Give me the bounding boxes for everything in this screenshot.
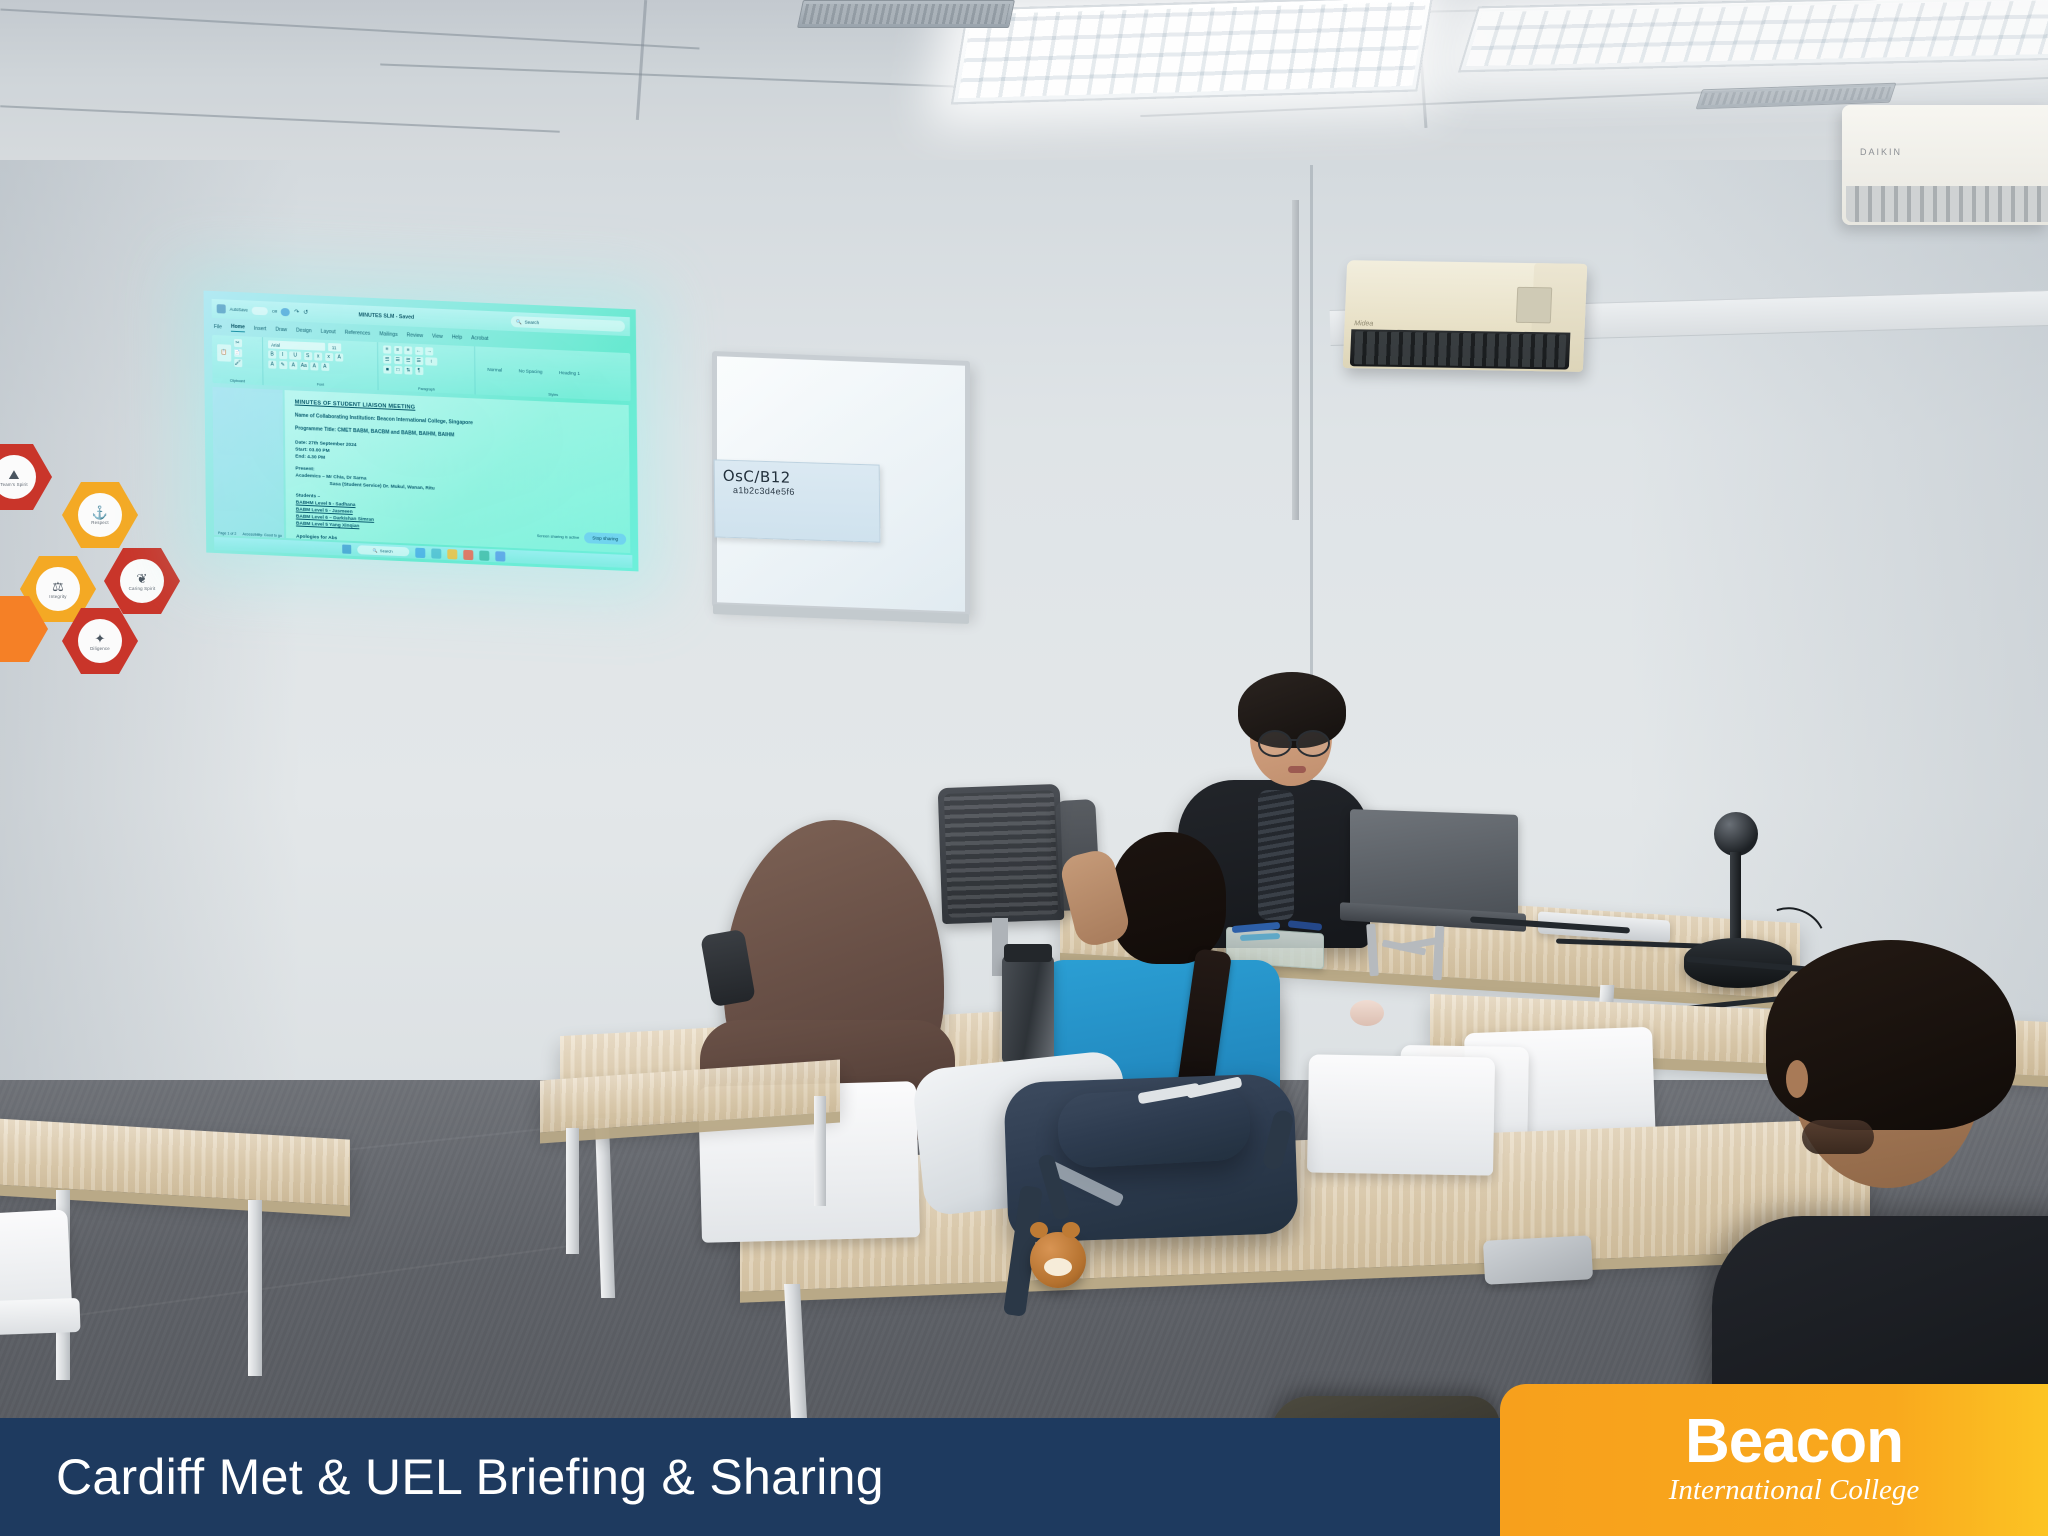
grow-font-icon[interactable]: A <box>310 362 318 370</box>
subscript-icon[interactable]: x <box>314 352 322 360</box>
tab-view[interactable]: View <box>432 334 443 340</box>
ribbon-group-font: Arial 11 B I U S x x A A ✎ A Aa A <box>263 337 379 390</box>
microphone-stem <box>1730 852 1741 948</box>
search-icon: 🔍 <box>373 548 378 553</box>
classroom-photo: ⛰ Team's Spirit ⚓ Respect ⚖ Integrity ❦ … <box>0 0 2048 1536</box>
tab-references[interactable]: References <box>345 330 371 337</box>
format-painter-icon[interactable]: 🖌 <box>234 359 242 367</box>
numbering-icon[interactable]: ≡ <box>394 346 402 354</box>
accessibility-status: Accessibility: Good to go <box>242 532 281 538</box>
autosave-state: Off <box>272 309 277 314</box>
ribbon-group-paragraph: ≡ ≡ ≡ ← → ☰ ☰ ☰ ☰ ↕ ■ □ ⇅ ¶ <box>378 342 476 394</box>
increase-indent-icon[interactable]: → <box>425 347 433 355</box>
word-search-box[interactable]: 🔍 Search <box>511 316 625 332</box>
tab-mailings[interactable]: Mailings <box>379 331 397 338</box>
bullets-icon[interactable]: ≡ <box>383 345 391 353</box>
ribbon-group-clipboard: 📋 ✂ 📄 🖌 Clipboard <box>212 335 264 385</box>
tab-layout[interactable]: Layout <box>321 329 336 336</box>
page-count: Page 1 of 2 <box>218 531 236 536</box>
borders-icon[interactable]: □ <box>394 366 402 374</box>
sort-icon[interactable]: ⇅ <box>404 366 412 374</box>
plush-ear-left <box>1030 1222 1048 1238</box>
font-size-box[interactable]: 11 <box>328 343 341 352</box>
taskbar-search[interactable]: 🔍 Search <box>357 545 409 556</box>
zoom-share-notice: Screen sharing is active <box>537 533 580 540</box>
taskbar-app-icon-folder[interactable] <box>447 549 457 559</box>
tab-home[interactable]: Home <box>231 324 245 333</box>
word-document-page[interactable]: MINUTES OF STUDENT LIAISON MEETING Name … <box>285 390 631 553</box>
tab-draw[interactable]: Draw <box>275 327 287 334</box>
caption-bar: Cardiff Met & UEL Briefing & Sharing <box>0 1418 1540 1536</box>
style-no-spacing[interactable]: No Spacing <box>512 367 550 374</box>
ceiling-light-panel <box>951 0 1433 104</box>
ceiling-vent <box>797 0 1015 28</box>
logo-tagline: International College <box>1669 1472 1920 1508</box>
hex-glyph-icon: ⚓ <box>92 506 108 519</box>
style-normal[interactable]: Normal <box>480 366 509 372</box>
presenter-glasses-left <box>1258 730 1292 757</box>
save-icon[interactable] <box>281 307 290 315</box>
align-right-icon[interactable]: ☰ <box>404 356 412 364</box>
presenter-hair <box>1238 672 1346 748</box>
change-case-icon[interactable]: Aa <box>300 362 308 370</box>
taskbar-app-icon-explorer[interactable] <box>431 548 441 558</box>
office-chair-mesh[interactable] <box>938 784 1065 924</box>
group-label-clipboard: Clipboard <box>230 379 245 384</box>
taskbar-search-placeholder: Search <box>380 548 393 554</box>
document-title: MINUTES SLM - Saved <box>359 312 415 320</box>
foreground-student-hair <box>1766 940 2016 1130</box>
chair-white-mid[interactable] <box>1307 1054 1495 1175</box>
table-leg <box>814 1096 826 1206</box>
hex-glyph-icon: ⚖ <box>52 580 64 593</box>
clear-formatting-icon[interactable]: A <box>335 353 343 361</box>
plush-muzzle <box>1044 1258 1072 1276</box>
caption-title: Cardiff Met & UEL Briefing & Sharing <box>0 1448 884 1506</box>
student-blue-head-hair <box>1110 832 1226 964</box>
logo-name: Beacon <box>1685 1412 1903 1472</box>
foreground-student-ear <box>1786 1060 1808 1098</box>
air-conditioner-unit: Midea <box>1343 260 1588 372</box>
line-spacing-icon[interactable]: ↕ <box>425 357 437 366</box>
word-app-icon <box>217 304 226 313</box>
ac-brand-logo-right: DAIKIN <box>1860 147 1902 157</box>
hex-glyph-icon: ⛰ <box>9 468 20 481</box>
document-left-margin <box>213 387 285 538</box>
show-marks-icon[interactable]: ¶ <box>415 367 423 375</box>
copy-icon[interactable]: 📄 <box>234 349 242 357</box>
presenter-glasses-right <box>1296 730 1330 757</box>
tab-file[interactable]: File <box>214 324 222 330</box>
align-center-icon[interactable]: ☰ <box>394 356 402 364</box>
ac-label-plate <box>1516 287 1553 324</box>
beacon-logo: Beacon International College <box>1500 1384 2048 1536</box>
ribbon-group-styles: Normal No Spacing Heading 1 Styles <box>475 346 631 401</box>
presenter-mouth <box>1288 766 1306 773</box>
style-heading-1[interactable]: Heading 1 <box>552 369 587 376</box>
paste-icon[interactable]: 📋 <box>217 344 231 362</box>
tab-help[interactable]: Help <box>452 334 462 340</box>
table-leg <box>566 1128 579 1254</box>
autosave-toggle[interactable] <box>252 306 268 315</box>
microphone-head <box>1714 812 1758 856</box>
eraser <box>1350 1000 1384 1026</box>
search-placeholder: Search <box>525 320 540 326</box>
tab-review[interactable]: Review <box>407 332 423 339</box>
ac-brand-logo: Midea <box>1354 320 1373 327</box>
group-label-styles: Styles <box>548 393 558 397</box>
ceiling-light-panel <box>1458 0 2048 72</box>
bold-icon[interactable]: B <box>268 350 276 358</box>
decrease-indent-icon[interactable]: ← <box>415 347 423 355</box>
ac-grille-right <box>1846 186 2048 222</box>
foreground-student-beard <box>1802 1120 1874 1154</box>
smartphone[interactable] <box>1483 1235 1593 1285</box>
table-leg <box>248 1200 262 1376</box>
laptop-screen[interactable] <box>1350 809 1518 919</box>
hex-glyph-icon: ❦ <box>137 572 148 585</box>
travel-bottle <box>1002 955 1054 1063</box>
chair-seat-left <box>0 1298 81 1336</box>
tab-design[interactable]: Design <box>296 328 312 335</box>
presenter-blouse <box>1258 790 1294 920</box>
multilevel-list-icon[interactable]: ≡ <box>404 346 412 354</box>
text-effects-icon[interactable]: A <box>289 361 297 369</box>
taskbar-app-icon-zoom[interactable] <box>495 551 505 561</box>
cut-icon[interactable]: ✂ <box>234 339 242 347</box>
highlight-icon[interactable]: ✎ <box>279 361 287 369</box>
group-label-paragraph: Paragraph <box>418 387 435 392</box>
italic-icon[interactable]: I <box>279 351 287 359</box>
search-icon: 🔍 <box>516 319 522 325</box>
taskbar-app-icon-office[interactable] <box>463 549 473 559</box>
tab-acrobat[interactable]: Acrobat <box>471 335 488 342</box>
taskbar-app-icon-excel[interactable] <box>479 550 489 560</box>
superscript-icon[interactable]: x <box>325 353 333 361</box>
taskbar-app-icon-edge[interactable] <box>415 547 425 557</box>
redo-icon[interactable]: ↺ <box>303 309 308 316</box>
air-conditioner-unit-right: DAIKIN <box>1842 105 2048 225</box>
font-color-icon[interactable]: A <box>268 360 276 368</box>
undo-icon[interactable]: ↷ <box>294 309 299 316</box>
shading-icon[interactable]: ■ <box>383 365 391 373</box>
justify-icon[interactable]: ☰ <box>415 357 423 365</box>
strikethrough-icon[interactable]: S <box>304 352 312 360</box>
bottle-cap <box>1004 944 1052 962</box>
presenter-glasses-bridge <box>1288 739 1297 741</box>
tab-insert[interactable]: Insert <box>254 326 267 333</box>
stop-sharing-button[interactable]: Stop sharing <box>584 532 626 545</box>
ac-louvers <box>1354 332 1566 368</box>
autosave-label: AutoSave <box>230 307 248 313</box>
conduit-pipe <box>1292 200 1299 520</box>
ac-grille <box>1350 329 1570 369</box>
whiteboard-note: OsC/B12 a1b2c3d4e5f6 <box>714 459 881 542</box>
plush-ear-right <box>1062 1222 1080 1238</box>
group-label-font: Font <box>317 382 324 386</box>
font-name-box[interactable]: Arial <box>268 340 325 350</box>
shrink-font-icon[interactable]: A <box>321 363 329 371</box>
start-button-icon[interactable] <box>342 544 351 553</box>
hex-glyph-icon: ✦ <box>95 632 106 645</box>
projected-screen: AutoSave Off ↷ ↺ MINUTES SLM - Saved 🔍 S… <box>204 291 639 572</box>
underline-icon[interactable]: U <box>289 351 301 360</box>
align-left-icon[interactable]: ☰ <box>383 355 391 363</box>
